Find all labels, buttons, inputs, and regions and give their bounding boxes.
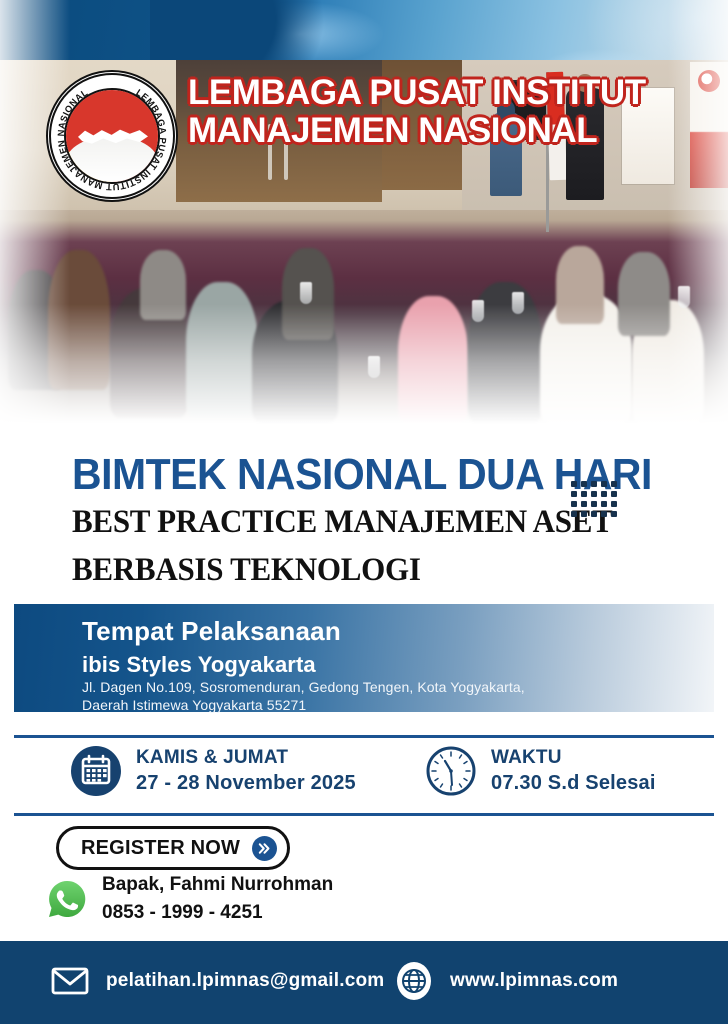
time-heading: WAKTU <box>491 747 656 769</box>
register-now-button[interactable]: REGISTER NOW <box>56 826 290 870</box>
venue-label: Tempat Pelaksanaan <box>82 616 341 647</box>
whatsapp-contact[interactable]: Bapak, Fahmi Nurrohman 0853 - 1999 - 425… <box>46 874 333 924</box>
register-now-label: REGISTER NOW <box>81 837 240 860</box>
venue-address-line-2: Daerah Istimewa Yogyakarta 55271 <box>82 696 525 714</box>
event-poster: LEMBAGA PUSAT INSTITUT MANAJEMEN NASIONA… <box>0 0 728 1024</box>
lpimnas-logo: LEMBAGA PUSAT INSTITUT MANAJEMEN NASIONA… <box>48 72 176 200</box>
time-value: 07.30 S.d Selesai <box>491 772 656 795</box>
venue-address: Jl. Dagen No.109, Sosromenduran, Gedong … <box>82 678 525 714</box>
time-text: WAKTU 07.30 S.d Selesai <box>491 747 656 795</box>
chevron-glyph <box>257 841 272 856</box>
contact-phone: 0853 - 1999 - 4251 <box>102 902 333 924</box>
footer-email[interactable]: pelatihan.lpimnas@gmail.com <box>48 959 384 1003</box>
date-heading: KAMIS & JUMAT <box>136 747 356 769</box>
org-line-1: LEMBAGA PUSAT INSTITUT <box>188 74 658 112</box>
footer-email-label: pelatihan.lpimnas@gmail.com <box>106 970 384 992</box>
event-subtitle-1: BEST PRACTICE MANAJEMEN ASET <box>72 504 613 540</box>
photo-fade-bottom <box>0 304 728 424</box>
footer-website[interactable]: www.lpimnas.com <box>392 959 618 1003</box>
footer-website-label: www.lpimnas.com <box>450 970 618 992</box>
footer-bar: pelatihan.lpimnas@gmail.com www.lpimnas.… <box>0 941 728 1024</box>
clock-icon <box>425 745 477 797</box>
envelope-icon <box>48 959 92 1003</box>
double-chevron-right-icon <box>252 836 277 861</box>
event-title: BIMTEK NASIONAL DUA HARI <box>72 452 652 498</box>
divider-top <box>14 735 714 738</box>
whatsapp-text: Bapak, Fahmi Nurrohman 0853 - 1999 - 425… <box>102 874 333 924</box>
date-info: KAMIS & JUMAT 27 - 28 November 2025 <box>70 745 356 797</box>
date-text: KAMIS & JUMAT 27 - 28 November 2025 <box>136 747 356 795</box>
logo-emblem <box>66 90 158 182</box>
title-block: BIMTEK NASIONAL DUA HARI BEST PRACTICE M… <box>0 424 728 604</box>
venue-name: ibis Styles Yogyakarta <box>82 652 316 678</box>
table-glass <box>300 282 312 304</box>
venue-address-line-1: Jl. Dagen No.109, Sosromenduran, Gedong … <box>82 678 525 696</box>
contact-name: Bapak, Fahmi Nurrohman <box>102 874 333 896</box>
dot-grid-decoration <box>571 481 617 517</box>
venue-band: Tempat Pelaksanaan ibis Styles Yogyakart… <box>14 604 714 712</box>
event-subtitle-2: BERBASIS TEKNOLOGI <box>72 552 421 588</box>
whatsapp-icon <box>46 878 88 920</box>
globe-icon <box>392 959 436 1003</box>
time-info: WAKTU 07.30 S.d Selesai <box>425 745 656 797</box>
organization-name: LEMBAGA PUSAT INSTITUT MANAJEMEN NASIONA… <box>188 74 658 150</box>
calendar-icon <box>70 745 122 797</box>
divider-bottom <box>14 813 714 816</box>
org-line-2: MANAJEMEN NASIONAL <box>188 112 658 150</box>
hero-photo <box>0 0 728 424</box>
archipelago-shape <box>78 126 148 152</box>
date-value: 27 - 28 November 2025 <box>136 772 356 795</box>
